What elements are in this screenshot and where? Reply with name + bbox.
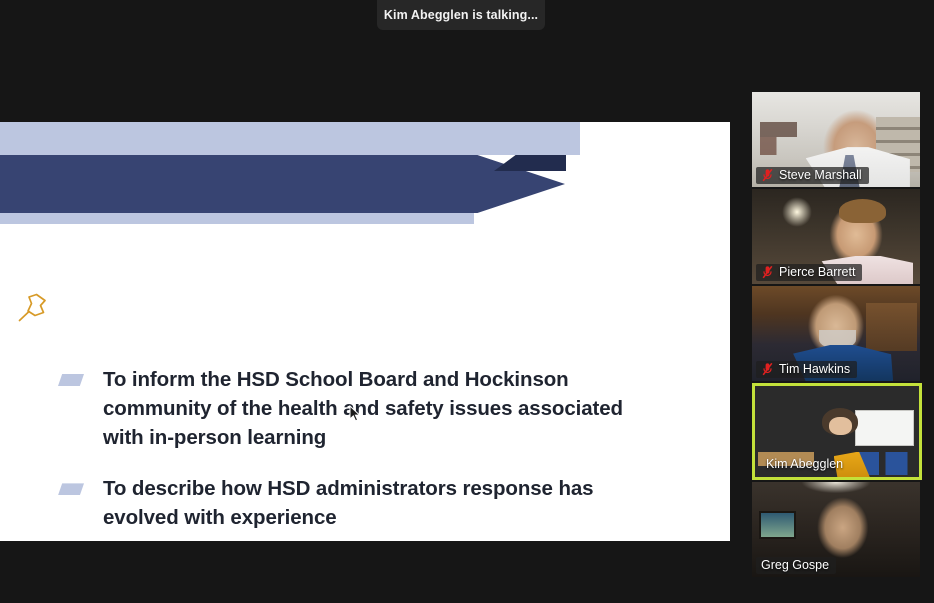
participant-name-chip: Kim Abegglen [761, 456, 850, 473]
mic-muted-icon [761, 362, 774, 376]
meeting-screen: Kim Abegglen is talking... Tonight's Obj… [0, 0, 934, 603]
participant-name-chip: Pierce Barrett [756, 264, 862, 281]
participant-name: Pierce Barrett [779, 265, 855, 279]
active-speaker-banner: Kim Abegglen is talking... [377, 0, 545, 30]
mic-muted-icon [761, 168, 774, 182]
participant-tile-kim-abegglen[interactable]: Kim Abegglen [752, 383, 922, 480]
ribbon-light-top-band [0, 122, 580, 155]
participant-name-chip: Tim Hawkins [756, 361, 857, 378]
participant-tile-tim-hawkins[interactable]: Tim Hawkins [752, 286, 920, 381]
slide-bullet-list: To inform the HSD School Board and Hocki… [58, 365, 668, 541]
participant-name: Steve Marshall [779, 168, 862, 182]
bullet-marker-icon [58, 483, 84, 495]
participant-name: Greg Gospe [761, 558, 829, 572]
ribbon-shadow-fold [494, 155, 566, 171]
pushpin-icon [14, 288, 50, 326]
slide-title: Tonight's Objectives [67, 298, 241, 319]
shared-presentation-slide[interactable]: Tonight's Objectives To inform the HSD S… [0, 122, 730, 541]
ribbon-light-bottom-band [0, 213, 474, 224]
participant-name: Kim Abegglen [766, 457, 843, 471]
slide-title-ribbon [0, 122, 730, 224]
bullet-item: To inform the HSD School Board and Hocki… [58, 365, 668, 452]
active-speaker-banner-label: Kim Abegglen is talking... [384, 8, 538, 22]
bullet-text: To inform the HSD School Board and Hocki… [103, 365, 668, 452]
bullet-item: To describe how HSD administrators respo… [58, 474, 668, 532]
participant-name-chip: Steve Marshall [756, 167, 869, 184]
participant-tile-steve-marshall[interactable]: Steve Marshall [752, 92, 920, 187]
participant-name: Tim Hawkins [779, 362, 850, 376]
ribbon-navy-band [0, 155, 565, 213]
bullet-text: To describe how HSD administrators respo… [103, 474, 668, 532]
participant-name-chip: Greg Gospe [756, 557, 836, 574]
participant-tile-pierce-barrett[interactable]: Pierce Barrett [752, 189, 920, 284]
bullet-marker-icon [58, 374, 84, 386]
participant-tile-greg-gospe[interactable]: Greg Gospe [752, 482, 920, 577]
mic-muted-icon [761, 265, 774, 279]
participant-video-rail: Steve Marshall Pierce Barrett [752, 92, 922, 579]
mouse-cursor [349, 405, 361, 423]
